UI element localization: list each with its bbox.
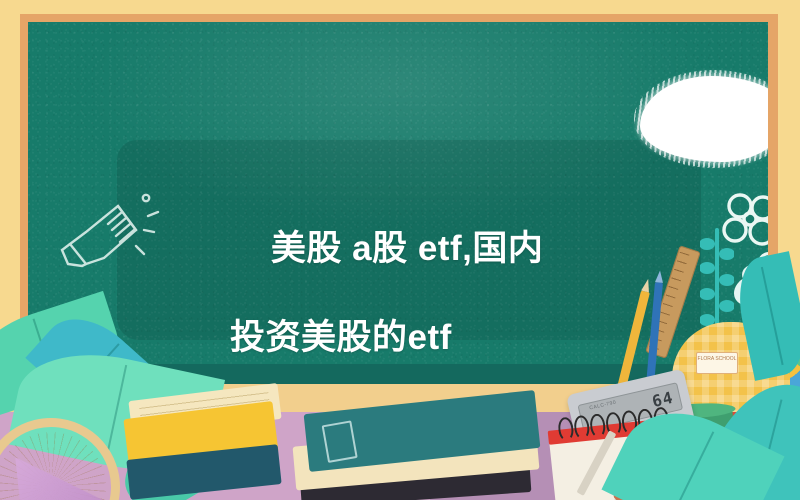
backpack-tag: FLORA SCHOOL	[696, 352, 738, 374]
page-title-line-1: 美股 a股 etf,国内	[271, 229, 543, 268]
page-title-line-2: 投资美股的etf	[230, 316, 650, 361]
cover-image: FLORA SCHOOL CALC-790 64 AC +/- % ÷ 7 8 …	[0, 0, 800, 500]
page-title: 美股 a股 etf,国内 投资美股的etf	[230, 182, 650, 451]
